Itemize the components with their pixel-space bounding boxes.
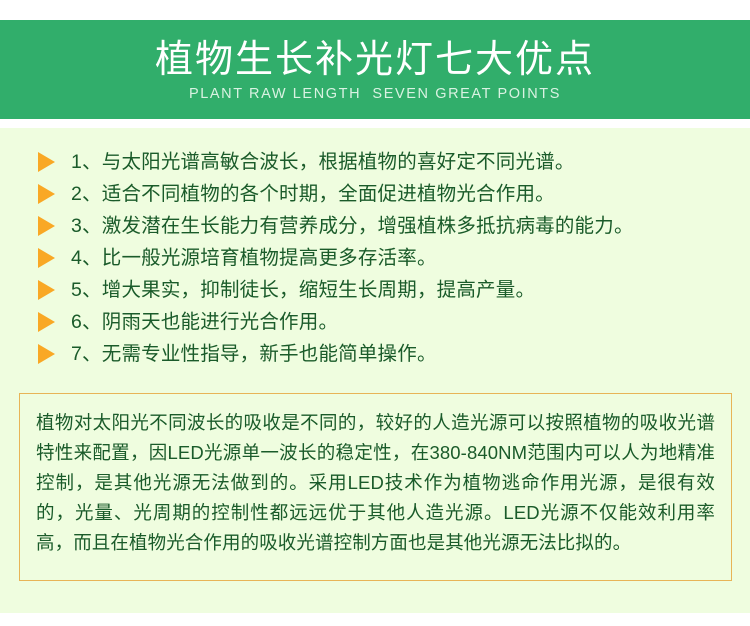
list-item: 3、激发潜在生长能力有营养成分，增强植株多抵抗病毒的能力。 xyxy=(0,210,750,242)
description-box: 植物对太阳光不同波长的吸收是不同的，较好的人造光源可以按照植物的吸收光谱特性来配… xyxy=(19,393,732,581)
list-item: 2、适合不同植物的各个时期，全面促进植物光合作用。 xyxy=(0,178,750,210)
feature-label: 6、阴雨天也能进行光合作用。 xyxy=(71,307,338,337)
list-item: 1、与太阳光谱高敏合波长，根据植物的喜好定不同光谱。 xyxy=(0,146,750,178)
triangle-right-icon xyxy=(38,312,55,332)
triangle-right-icon xyxy=(38,152,55,172)
triangle-right-icon xyxy=(38,184,55,204)
feature-label: 4、比一般光源培育植物提高更多存活率。 xyxy=(71,243,437,273)
list-item: 6、阴雨天也能进行光合作用。 xyxy=(0,306,750,338)
product-detail-page: 植物生长补光灯七大优点 PLANT RAW LENGTH SEVEN GREAT… xyxy=(0,0,750,626)
header-banner: 植物生长补光灯七大优点 PLANT RAW LENGTH SEVEN GREAT… xyxy=(0,20,750,119)
description-text: 植物对太阳光不同波长的吸收是不同的，较好的人造光源可以按照植物的吸收光谱特性来配… xyxy=(36,408,715,558)
triangle-right-icon xyxy=(38,248,55,268)
triangle-right-icon xyxy=(38,280,55,300)
feature-list: 1、与太阳光谱高敏合波长，根据植物的喜好定不同光谱。 2、适合不同植物的各个时期… xyxy=(0,146,750,370)
content-block: 1、与太阳光谱高敏合波长，根据植物的喜好定不同光谱。 2、适合不同植物的各个时期… xyxy=(0,128,750,613)
feature-label: 1、与太阳光谱高敏合波长，根据植物的喜好定不同光谱。 xyxy=(71,147,575,177)
list-item: 7、无需专业性指导，新手也能简单操作。 xyxy=(0,338,750,370)
triangle-right-icon xyxy=(38,216,55,236)
feature-label: 3、激发潜在生长能力有营养成分，增强植株多抵抗病毒的能力。 xyxy=(71,211,634,241)
page-title: 植物生长补光灯七大优点 xyxy=(155,37,595,83)
feature-label: 7、无需专业性指导，新手也能简单操作。 xyxy=(71,339,437,369)
feature-label: 2、适合不同植物的各个时期，全面促进植物光合作用。 xyxy=(71,179,555,209)
page-subtitle: PLANT RAW LENGTH SEVEN GREAT POINTS xyxy=(189,85,561,103)
triangle-right-icon xyxy=(38,344,55,364)
list-item: 5、增大果实，抑制徒长，缩短生长周期，提高产量。 xyxy=(0,274,750,306)
list-item: 4、比一般光源培育植物提高更多存活率。 xyxy=(0,242,750,274)
feature-label: 5、增大果实，抑制徒长，缩短生长周期，提高产量。 xyxy=(71,275,535,305)
